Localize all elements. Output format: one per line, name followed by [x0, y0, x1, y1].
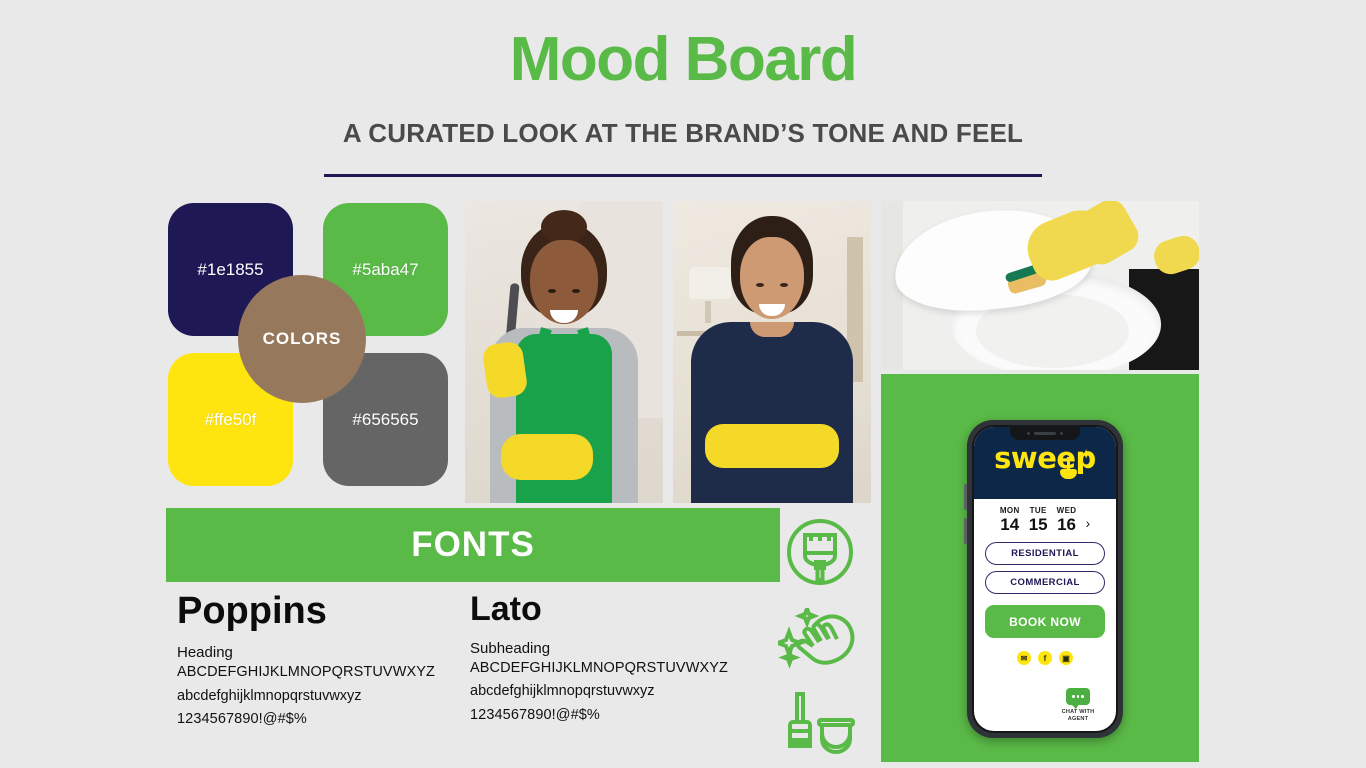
chat-label-line1: CHAT WITH: [1052, 709, 1104, 716]
font-name: Poppins: [177, 592, 435, 632]
font-uppercase-sample: ABCDEFGHIJKLMNOPQRSTUVWXYZ: [177, 661, 435, 685]
book-now-button[interactable]: BOOK NOW: [985, 605, 1105, 638]
font-specimen-lato: Lato Subheading ABCDEFGHIJKLMNOPQRSTUVWX…: [470, 592, 728, 728]
font-specimen-poppins: Poppins Heading ABCDEFGHIJKLMNOPQRSTUVWX…: [177, 592, 435, 732]
camera-dot-icon: [1027, 432, 1030, 435]
day-date: 15: [1029, 516, 1048, 533]
broom-head-icon: [1060, 469, 1077, 479]
font-lowercase-sample: abcdefghijklmnopqrstuvwxyz: [177, 685, 435, 709]
phone-mockup: sweep ✦ MON 14 TUE 15 WED 16: [967, 420, 1123, 738]
facebook-icon[interactable]: f: [1038, 651, 1052, 665]
color-swatch-label: #5aba47: [352, 260, 418, 280]
option-commercial-button[interactable]: COMMERCIAL: [985, 571, 1105, 594]
app-logo: sweep ✦: [974, 444, 1116, 473]
phone-notch: [1010, 427, 1080, 440]
photo-cleaner-folded-hands: [673, 201, 871, 503]
email-icon[interactable]: ✉: [1017, 651, 1031, 665]
social-links: ✉ f ▣: [974, 651, 1116, 665]
speaker-slot-icon: [1034, 432, 1056, 435]
day-selector[interactable]: MON 14 TUE 15 WED 16 ›: [974, 499, 1116, 536]
app-logo-text: sweep: [974, 444, 1116, 473]
phone-screen: sweep ✦ MON 14 TUE 15 WED 16: [972, 425, 1118, 733]
colors-badge-label: COLORS: [263, 329, 342, 349]
fonts-section-header: FONTS: [166, 508, 780, 582]
color-swatch-label: #ffe50f: [205, 410, 257, 430]
option-residential-button[interactable]: RESIDENTIAL: [985, 542, 1105, 565]
broom-bucket-icon: [783, 692, 857, 754]
day-option-mon[interactable]: MON 14: [1000, 507, 1020, 533]
colors-section: #1e1855 #5aba47 #ffe50f #656565 COLORS: [168, 203, 448, 485]
font-name: Lato: [470, 592, 728, 628]
day-date: 16: [1057, 516, 1077, 533]
photo-toilet-cleaning: [881, 201, 1199, 370]
phone-power-button: [964, 518, 967, 544]
chevron-right-icon[interactable]: ›: [1086, 515, 1091, 533]
font-uppercase-sample: ABCDEFGHIJKLMNOPQRSTUVWXYZ: [470, 657, 728, 681]
day-date: 14: [1000, 516, 1020, 533]
day-option-wed[interactable]: WED 16: [1057, 507, 1077, 533]
app-header: sweep ✦: [974, 427, 1116, 499]
chat-bubble-icon[interactable]: [1066, 688, 1090, 705]
camera-dot-icon: [1060, 432, 1063, 435]
mood-board-page: Mood Board A CURATED LOOK AT THE BRAND’S…: [0, 0, 1366, 768]
font-role: Subheading: [470, 640, 728, 657]
font-role: Heading: [177, 644, 435, 661]
font-glyph-sample: 1234567890!@#$%: [177, 708, 435, 732]
day-name: TUE: [1029, 507, 1048, 515]
instagram-icon[interactable]: ▣: [1059, 651, 1073, 665]
page-subtitle: A CURATED LOOK AT THE BRAND’S TONE AND F…: [0, 118, 1366, 149]
color-swatch-label: #1e1855: [197, 260, 263, 280]
day-name: WED: [1057, 507, 1077, 515]
photo-cleaner-with-mop: [465, 201, 663, 503]
chat-label-line2: AGENT: [1052, 716, 1104, 723]
wiping-hand-sparkle-icon: [778, 608, 860, 676]
color-swatch-label: #656565: [352, 410, 418, 430]
header-divider: [324, 174, 1042, 177]
colors-badge: COLORS: [238, 275, 366, 403]
page-title: Mood Board: [0, 26, 1366, 94]
chat-with-agent[interactable]: CHAT WITH AGENT: [1052, 688, 1104, 723]
day-name: MON: [1000, 507, 1020, 515]
font-lowercase-sample: abcdefghijklmnopqrstuvwxyz: [470, 680, 728, 704]
day-option-tue[interactable]: TUE 15: [1029, 507, 1048, 533]
fonts-bar-label: FONTS: [411, 525, 535, 565]
font-glyph-sample: 1234567890!@#$%: [470, 704, 728, 728]
brush-circle-icon: [786, 518, 854, 586]
sparkle-icon: ✦: [1080, 446, 1092, 463]
phone-volume-button: [964, 484, 967, 510]
